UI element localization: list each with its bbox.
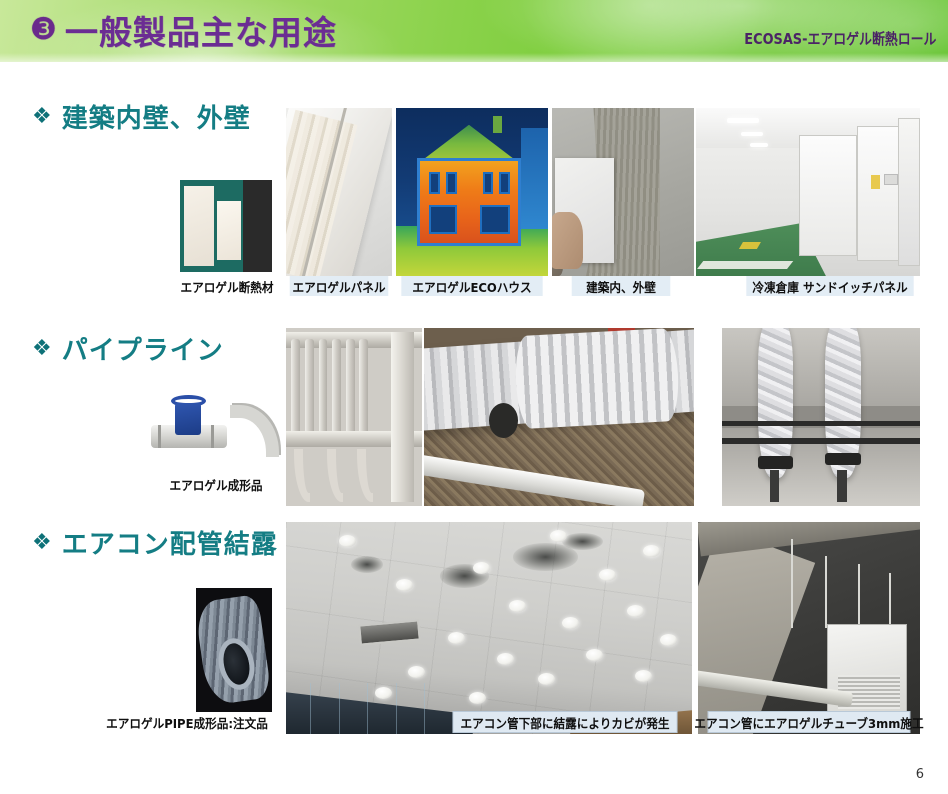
header-decor-swirl-1	[520, 0, 780, 62]
page-number: 6	[916, 767, 924, 782]
photo-insulated-pipe-bundle	[286, 328, 422, 506]
artwork	[180, 180, 272, 272]
photo-aerogel-moulded-parts	[148, 382, 284, 476]
diamond-bullet-icon: ❖	[32, 532, 52, 554]
photo-aerogel-panel	[286, 108, 392, 276]
photo-ceiling-mold-condensation	[286, 522, 692, 734]
caption-interior-exterior-wall: 建築内、外壁	[572, 276, 671, 296]
caption-aerogel-moulded-parts: エアロゲル成形品	[153, 474, 279, 494]
artwork	[196, 588, 272, 712]
caption-cold-storage-sandwich-panel: 冷凍倉庫 サンドイッチパネル	[746, 276, 913, 296]
photo-aircon-pipe-aerogel-tube	[698, 522, 920, 734]
section-label: 建築内壁、外壁	[62, 98, 251, 135]
header-product-label: ECOSAS-エアロゲル断熱ロール	[744, 28, 936, 49]
artwork	[698, 522, 920, 734]
section-label: エアコン配管結露	[62, 524, 278, 561]
caption-ceiling-mold-condensation: エアコン管下部に結露によりカビが発生	[452, 711, 677, 733]
photo-cold-storage-sandwich-panel	[696, 108, 920, 276]
caption-aerogel-insulation-board: エアロゲル断熱材	[176, 276, 278, 296]
artwork	[722, 328, 920, 506]
section-heading-pipeline: ❖ パイプライン	[32, 330, 224, 367]
photo-aerogel-eco-house-thermal	[396, 108, 548, 276]
section-heading-aircon-condensation: ❖ エアコン配管結露	[32, 524, 278, 561]
photo-metal-duct-over-soil	[424, 328, 694, 506]
caption-aircon-pipe-aerogel-tube: エアコン管にエアロゲルチューブ3mm施工	[708, 711, 911, 733]
artwork	[148, 382, 284, 476]
artwork	[552, 108, 694, 276]
slide-header: ❸ 一般製品主な用途 ECOSAS-エアロゲル断熱ロール	[0, 0, 948, 62]
artwork	[396, 108, 548, 276]
photo-aerogel-insulation-board	[180, 180, 272, 272]
diamond-bullet-icon: ❖	[32, 106, 52, 128]
caption-aerogel-pipe-moulded-tube: エアロゲルPIPE成形品:注文品	[99, 712, 276, 732]
artwork	[696, 108, 920, 276]
artwork	[286, 328, 422, 506]
photo-interior-exterior-wall	[552, 108, 694, 276]
page-title-text: 一般製品主な用途	[65, 6, 337, 54]
caption-aerogel-eco-house: エアロゲルECOハウス	[401, 276, 542, 296]
caption-aerogel-panel: エアロゲルパネル	[290, 276, 389, 296]
artwork	[286, 108, 392, 276]
section-number-badge: ❸	[30, 15, 57, 45]
artwork	[286, 522, 692, 734]
page-title: ❸ 一般製品主な用途	[30, 6, 337, 54]
diamond-bullet-icon: ❖	[32, 338, 52, 360]
section-label: パイプライン	[62, 330, 224, 367]
photo-foil-wrapped-pipes	[722, 328, 920, 506]
artwork	[424, 328, 694, 506]
photo-aerogel-pipe-moulded-tube	[196, 588, 272, 712]
section-heading-building-walls: ❖ 建築内壁、外壁	[32, 98, 251, 135]
